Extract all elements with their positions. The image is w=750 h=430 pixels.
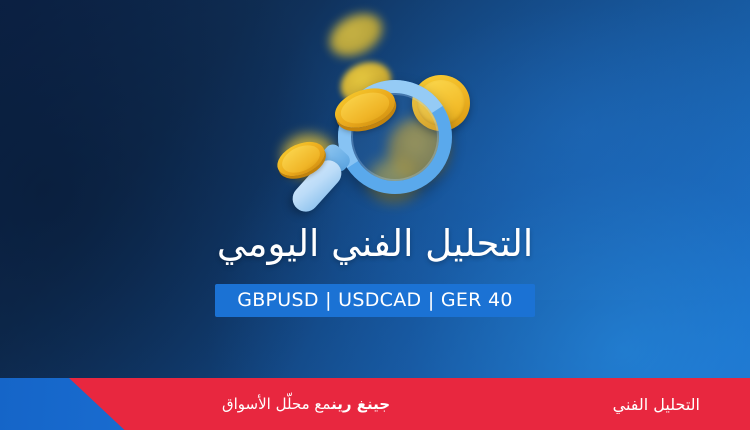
page-title: التحليل الفني اليومي — [0, 222, 750, 266]
hero-illustration — [282, 8, 492, 208]
analyst-prefix: مع محلّل الأسواق — [222, 395, 331, 413]
promo-banner: التحليل الفني اليومي GBPUSD | USDCAD | G… — [0, 0, 750, 430]
footer-analyst-credit: جينغ رينمع محلّل الأسواق — [0, 378, 430, 430]
coin-blurred-top-icon — [322, 5, 389, 65]
instruments-badge-wrap: GBPUSD | USDCAD | GER 40 — [0, 284, 750, 317]
instruments-badge: GBPUSD | USDCAD | GER 40 — [215, 284, 535, 317]
footer-bar: جينغ رينمع محلّل الأسواق التحليل الفني — [0, 378, 750, 430]
analyst-name: جينغ رين — [331, 395, 390, 413]
footer-category-label: التحليل الفني — [613, 378, 700, 430]
